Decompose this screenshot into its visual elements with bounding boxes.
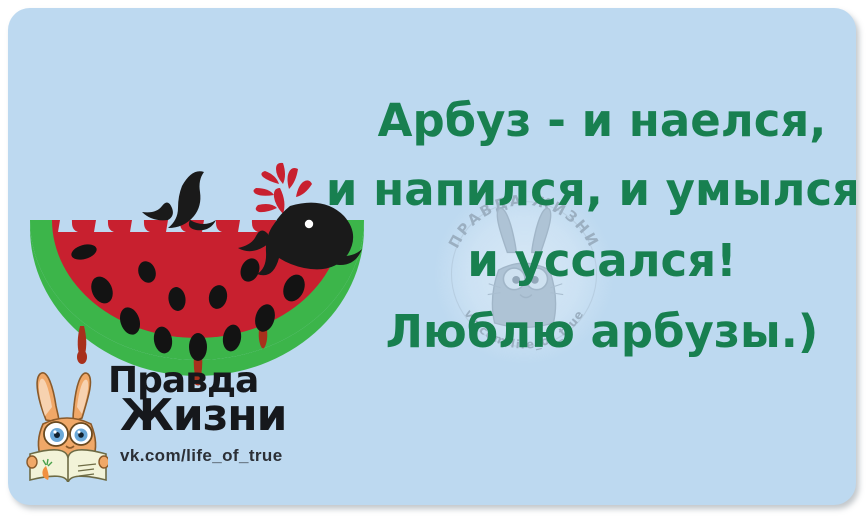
brand-line-2: Жизни (120, 394, 287, 438)
brand-logo-text: Правда Жизни vk.com/life_of_true (106, 360, 286, 478)
whale-eye (305, 220, 313, 228)
caption-line-2: и напился, и умылся, (326, 167, 856, 212)
demotivator-card: ПРАВДА ЖИЗНИ vk.com/life_of_true (8, 8, 856, 505)
caption-line-3: и уссался! (467, 238, 736, 283)
caption-block: Арбуз - и наелся, и напился, и умылся, и… (338, 94, 856, 424)
watermelon-illustration (22, 158, 372, 393)
brand-url: vk.com/life_of_true (120, 446, 283, 466)
brand-logo: Правда Жизни vk.com/life_of_true (26, 360, 276, 485)
caption-line-4: Люблю арбузы.) (386, 309, 819, 354)
rabbit-mascot-icon (26, 366, 108, 482)
image-canvas: ПРАВДА ЖИЗНИ vk.com/life_of_true (0, 0, 866, 518)
caption-line-1: Арбуз - и наелся, (378, 98, 827, 143)
